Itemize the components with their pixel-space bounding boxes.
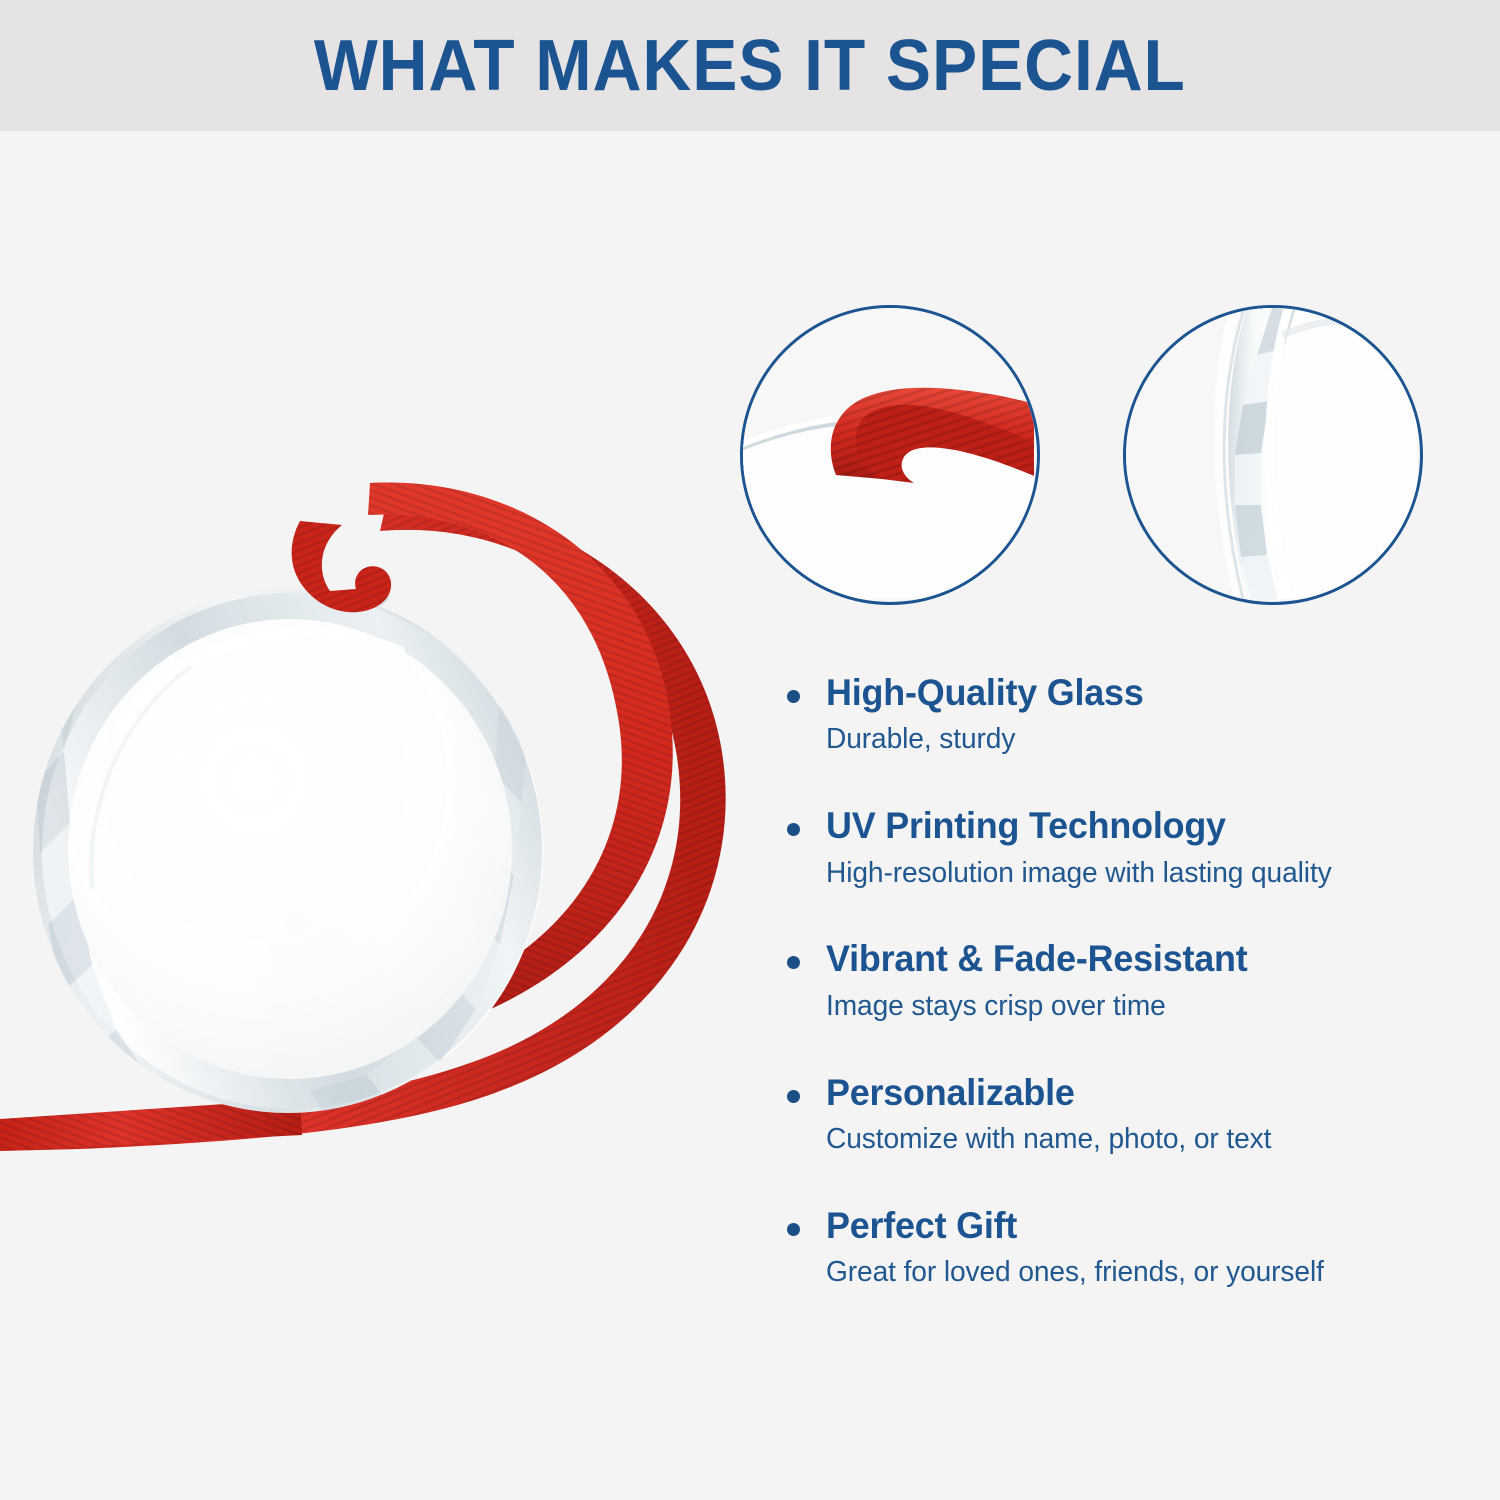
feature-description: Durable, sturdy	[826, 722, 1441, 757]
list-item: UV Printing Technology High-resolution i…	[780, 805, 1460, 890]
ribbon-hole-detail-graphic	[740, 305, 1034, 599]
list-item: Vibrant & Fade-Resistant Image stays cri…	[780, 938, 1460, 1023]
feature-title: Personalizable	[826, 1072, 1441, 1113]
header-band: WHAT MAKES IT SPECIAL	[0, 0, 1500, 131]
bullet-dot-icon	[787, 690, 800, 703]
callout-ribbon-hole-detail	[740, 305, 1040, 605]
glass-disc-graphic	[0, 451, 720, 1151]
faceted-edge-detail-graphic	[1123, 305, 1417, 599]
feature-description: Great for loved ones, friends, or yourse…	[826, 1255, 1441, 1290]
feature-title: Perfect Gift	[826, 1205, 1441, 1246]
feature-description: Image stays crisp over time	[826, 989, 1441, 1024]
list-item: Personalizable Customize with name, phot…	[780, 1072, 1460, 1157]
feature-title: High-Quality Glass	[826, 672, 1441, 713]
content-stage: High-Quality Glass Durable, sturdy UV Pr…	[0, 131, 1500, 1500]
list-item: Perfect Gift Great for loved ones, frien…	[780, 1205, 1460, 1290]
list-item: High-Quality Glass Durable, sturdy	[780, 672, 1460, 757]
bullet-dot-icon	[787, 1223, 800, 1236]
feature-description: Customize with name, photo, or text	[826, 1122, 1441, 1157]
feature-title: Vibrant & Fade-Resistant	[826, 938, 1441, 979]
bullet-dot-icon	[787, 1090, 800, 1103]
feature-title: UV Printing Technology	[826, 805, 1441, 846]
callout-faceted-edge-detail	[1123, 305, 1423, 605]
page-title: WHAT MAKES IT SPECIAL	[314, 30, 1186, 102]
feature-description: High-resolution image with lasting quali…	[826, 856, 1441, 891]
feature-list: High-Quality Glass Durable, sturdy UV Pr…	[780, 672, 1460, 1290]
product-image	[0, 451, 720, 1151]
